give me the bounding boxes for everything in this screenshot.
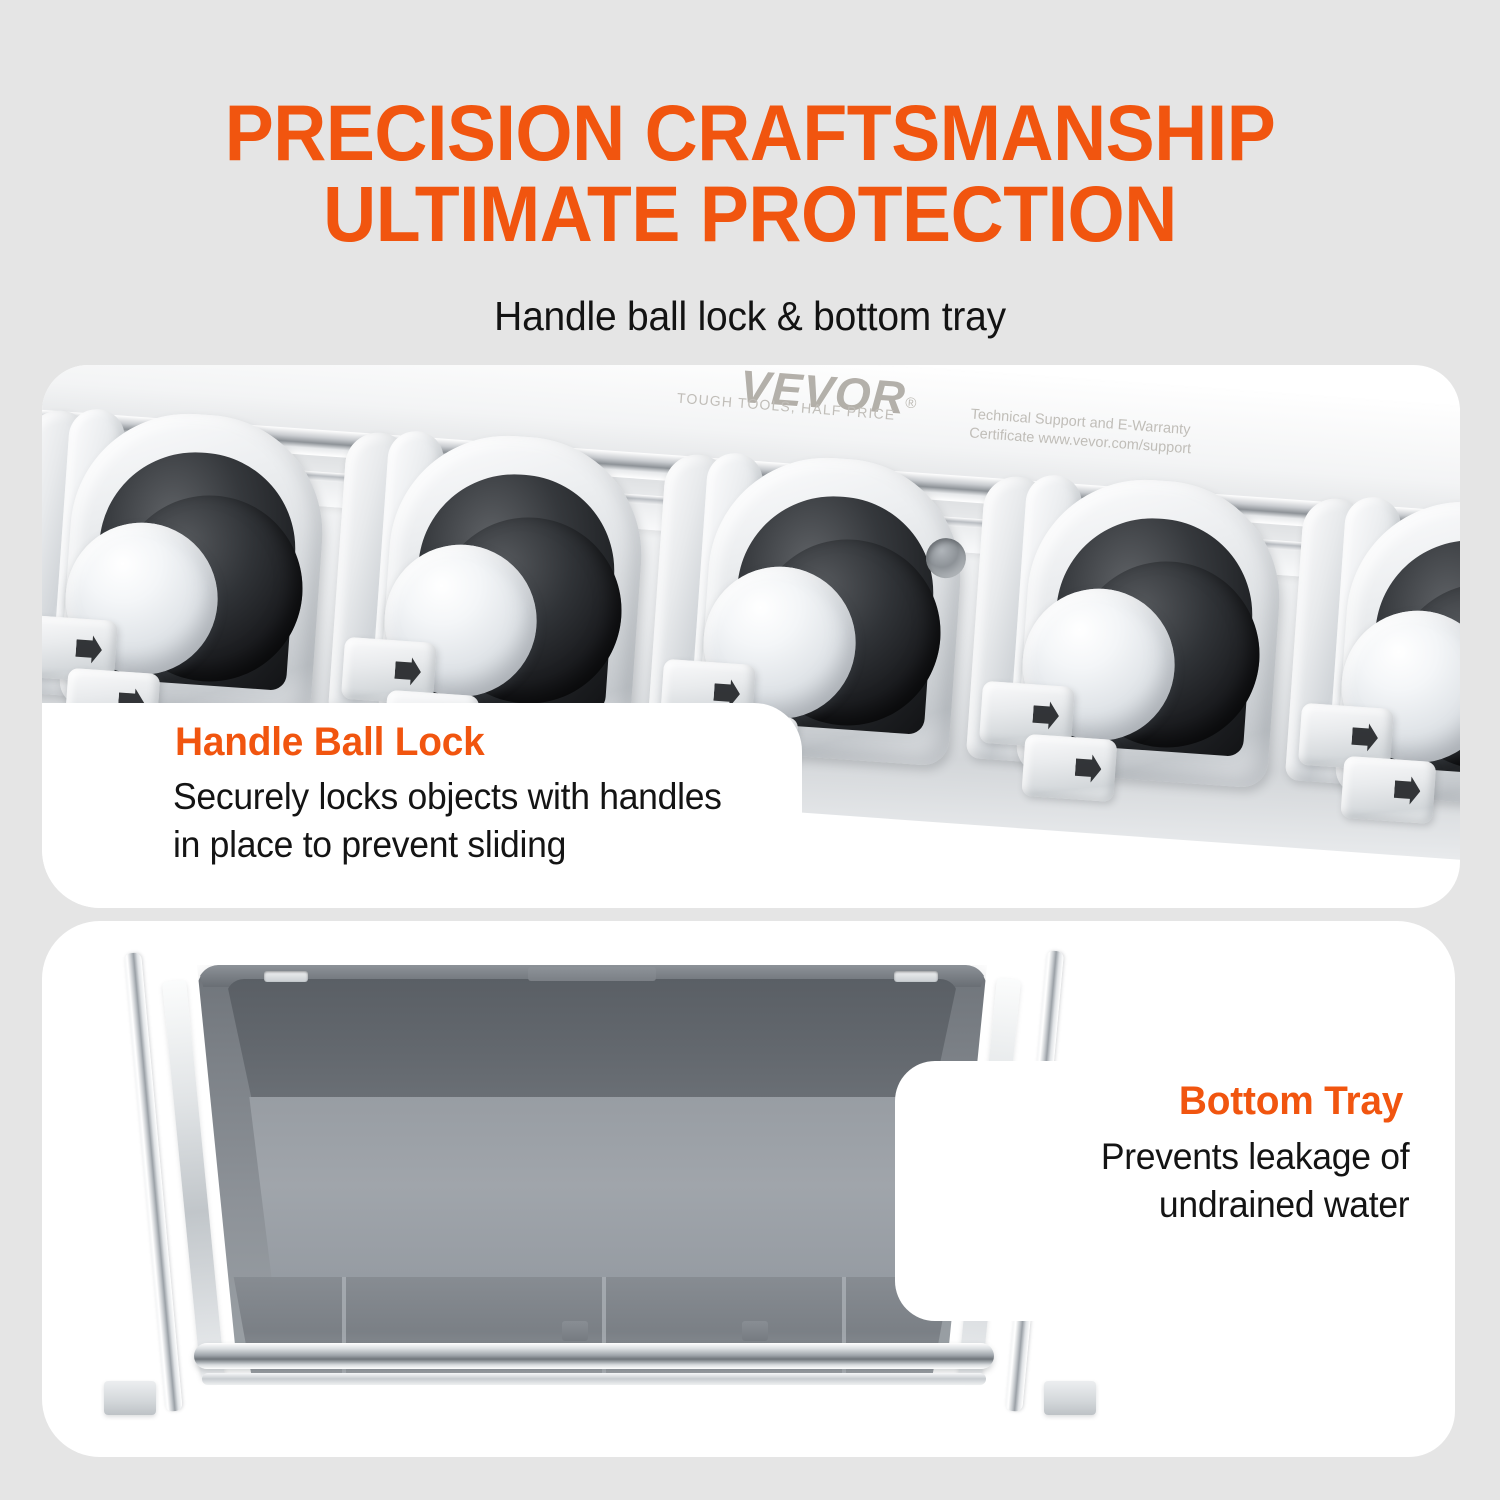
- bottom-tray-caption-card: Bottom Tray Prevents leakage of undraine…: [895, 1061, 1455, 1321]
- tray-floor: [232, 1097, 952, 1307]
- tray-clip: [562, 1321, 588, 1341]
- cart-foot-right: [1044, 1381, 1096, 1415]
- tray-center-tab: [528, 967, 656, 981]
- page-headline: PRECISION CRAFTSMANSHIP ULTIMATE PROTECT…: [53, 92, 1448, 254]
- tray-back-wall: [226, 979, 958, 1099]
- caption-body: Securely locks objects with handles in p…: [173, 773, 722, 869]
- caption-title: Handle Ball Lock: [175, 720, 485, 765]
- caption-body: Prevents leakage of undrained water: [1101, 1133, 1409, 1229]
- cart-foot-left: [104, 1381, 156, 1415]
- handle-ball-lock-caption-card: Handle Ball Lock Securely locks objects …: [42, 703, 802, 908]
- header: PRECISION CRAFTSMANSHIP ULTIMATE PROTECT…: [0, 0, 1500, 365]
- page-subtitle: Handle ball lock & bottom tray: [38, 293, 1463, 340]
- tray-handle-slot: [894, 971, 938, 982]
- ball-lock-gripper: [1270, 490, 1460, 908]
- gripper-clip: [1340, 756, 1436, 824]
- tray-clip: [742, 1321, 768, 1341]
- ball-lock-gripper: [951, 468, 1309, 908]
- caption-title: Bottom Tray: [1179, 1079, 1403, 1124]
- bottom-tray-panel: Bottom Tray Prevents leakage of undraine…: [42, 921, 1455, 1457]
- cart-crossbar: [194, 1343, 994, 1369]
- tray-handle-slot: [264, 971, 308, 982]
- handle-ball-lock-panel: VEVOR® TOUGH TOOLS, HALF PRICE Technical…: [42, 365, 1460, 908]
- registered-mark-icon: ®: [905, 394, 917, 412]
- cart-crossbar-secondary: [202, 1373, 986, 1385]
- gripper-clip: [1021, 734, 1117, 802]
